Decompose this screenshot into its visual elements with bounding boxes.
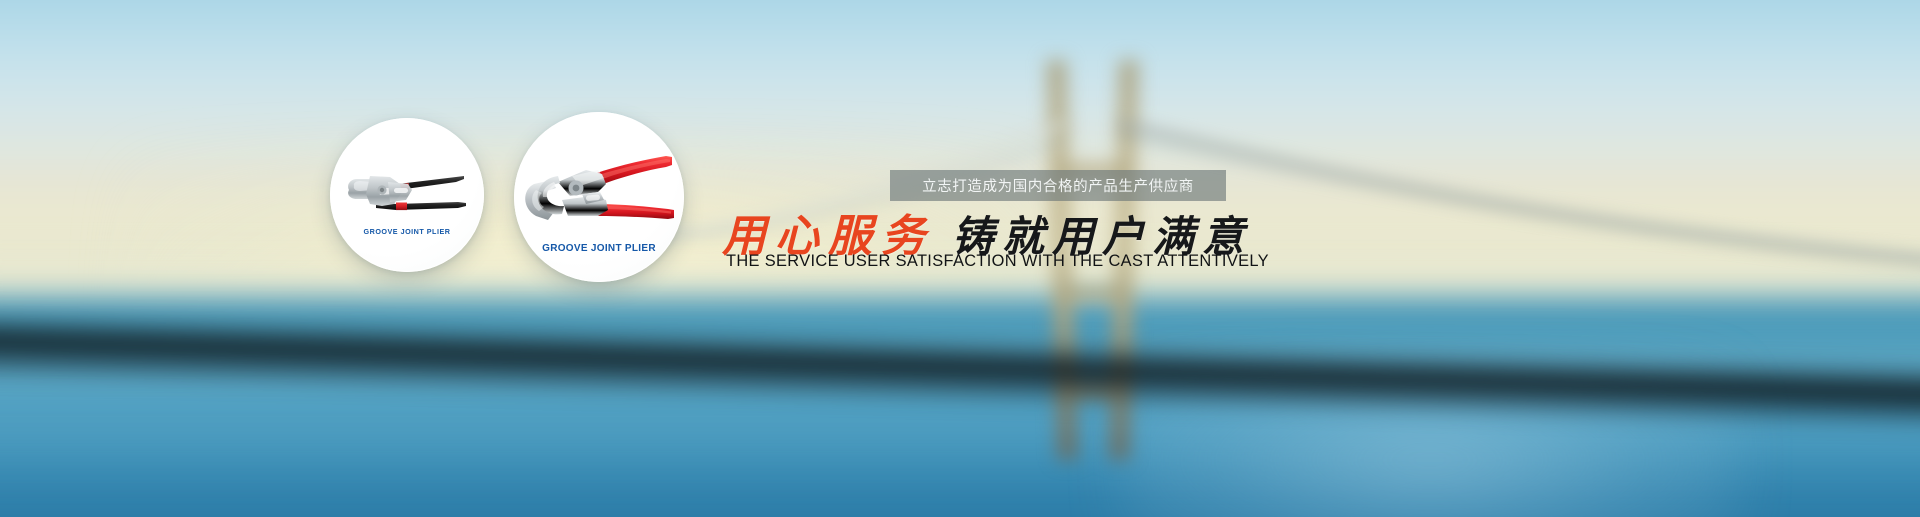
slogan-badge-text: 立志打造成为国内合格的产品生产供应商 <box>922 175 1194 196</box>
groove-joint-plier-red-handle-icon <box>514 112 684 282</box>
subheadline: THE SERVICE USER SATISFACTION WITH THE C… <box>726 252 1269 271</box>
product-label: GROOVE JOINT PLIER <box>514 243 684 254</box>
promo-banner: GROOVE JOINT PLIER <box>0 0 1920 517</box>
slogan-badge: 立志打造成为国内合格的产品生产供应商 <box>890 170 1226 201</box>
groove-joint-plier-black-handle-icon <box>330 118 484 272</box>
product-circle-1[interactable]: GROOVE JOINT PLIER <box>330 118 484 272</box>
product-circle-2[interactable]: GROOVE JOINT PLIER <box>514 112 684 282</box>
product-label: GROOVE JOINT PLIER <box>330 227 484 236</box>
bridge-deck <box>0 292 1920 472</box>
